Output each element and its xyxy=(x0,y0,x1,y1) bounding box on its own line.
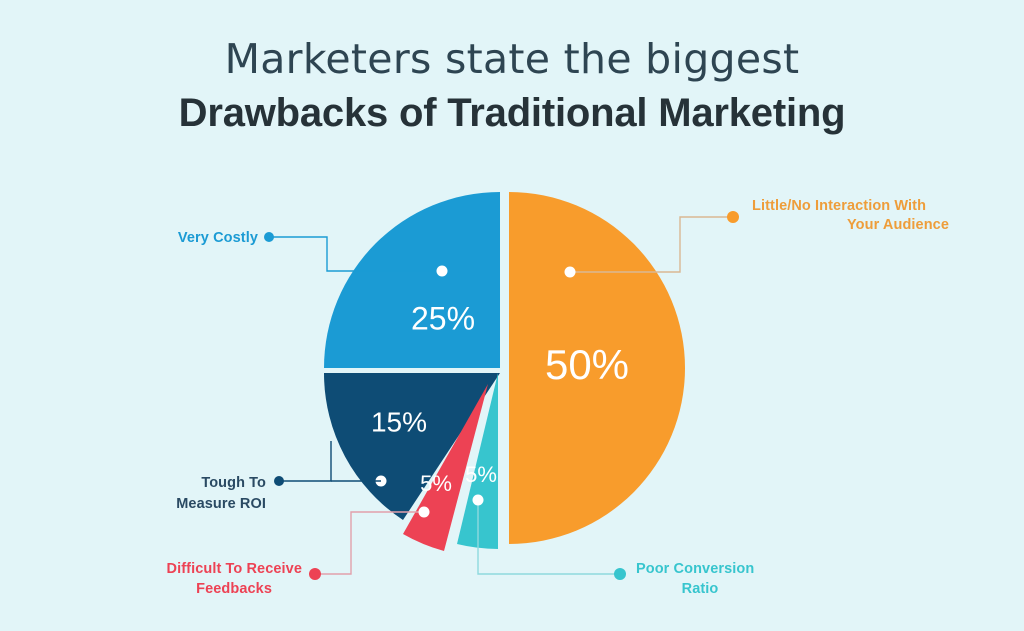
callout-label-difficult-to-receive-feedbacks-line1: Difficult To Receive xyxy=(167,561,302,577)
callout-label-tough-to-measure-roi-line2: Measure ROI xyxy=(176,496,266,512)
page-subtitle: Marketers state the biggest xyxy=(0,36,1024,83)
pie-slice-very-costly[interactable] xyxy=(324,192,500,368)
callout-dot-very-costly[interactable] xyxy=(264,232,274,242)
slice-hub-poor-conversion-ratio xyxy=(473,495,484,506)
page-title: Drawbacks of Traditional Marketing xyxy=(0,87,1024,139)
callout-leader-difficult-to-receive-feedbacks xyxy=(309,507,430,581)
callout-label-difficult-to-receive-feedbacks: Difficult To Receive Feedbacks xyxy=(167,561,302,597)
callout-label-tough-to-measure-roi-line1: Tough To xyxy=(201,475,266,491)
slice-hub-difficult-to-receive-feedbacks xyxy=(419,507,430,518)
slice-hub-little-no-interaction xyxy=(565,267,576,278)
title-block: Marketers state the biggest Drawbacks of… xyxy=(0,36,1024,139)
slice-value-little-no-interaction: 50% xyxy=(545,341,629,388)
infographic-canvas: Marketers state the biggest Drawbacks of… xyxy=(0,0,1024,631)
callout-dot-difficult-to-receive-feedbacks[interactable] xyxy=(309,568,321,580)
callout-label-poor-conversion-ratio-line1: Poor Conversion xyxy=(636,561,754,577)
callout-label-poor-conversion-ratio-line2: Ratio xyxy=(682,581,719,597)
slice-value-difficult-to-receive-feedbacks: 5% xyxy=(420,471,452,496)
callout-dot-little-no-interaction[interactable] xyxy=(727,211,739,223)
callout-dot-poor-conversion-ratio[interactable] xyxy=(614,568,626,580)
callout-label-difficult-to-receive-feedbacks-line2: Feedbacks xyxy=(196,581,272,597)
callout-label-little-no-interaction-line1: Little/No Interaction With xyxy=(752,198,926,214)
callout-label-tough-to-measure-roi: Tough To Measure ROI xyxy=(176,475,266,512)
slice-value-poor-conversion-ratio: 5% xyxy=(465,462,497,487)
callout-label-poor-conversion-ratio: Poor Conversion Ratio xyxy=(636,561,754,597)
callout-dot-tough-to-measure-roi[interactable] xyxy=(274,476,284,486)
callout-label-very-costly: Very Costly xyxy=(178,230,258,246)
callout-label-little-no-interaction-line2: Your Audience xyxy=(847,217,949,233)
slice-value-tough-to-measure-roi: 15% xyxy=(371,406,427,437)
pie-slices xyxy=(324,192,685,551)
callout-label-little-no-interaction: Little/No Interaction With Your Audience xyxy=(752,198,949,233)
slice-hub-very-costly xyxy=(437,266,448,277)
slice-value-very-costly: 25% xyxy=(411,300,475,336)
